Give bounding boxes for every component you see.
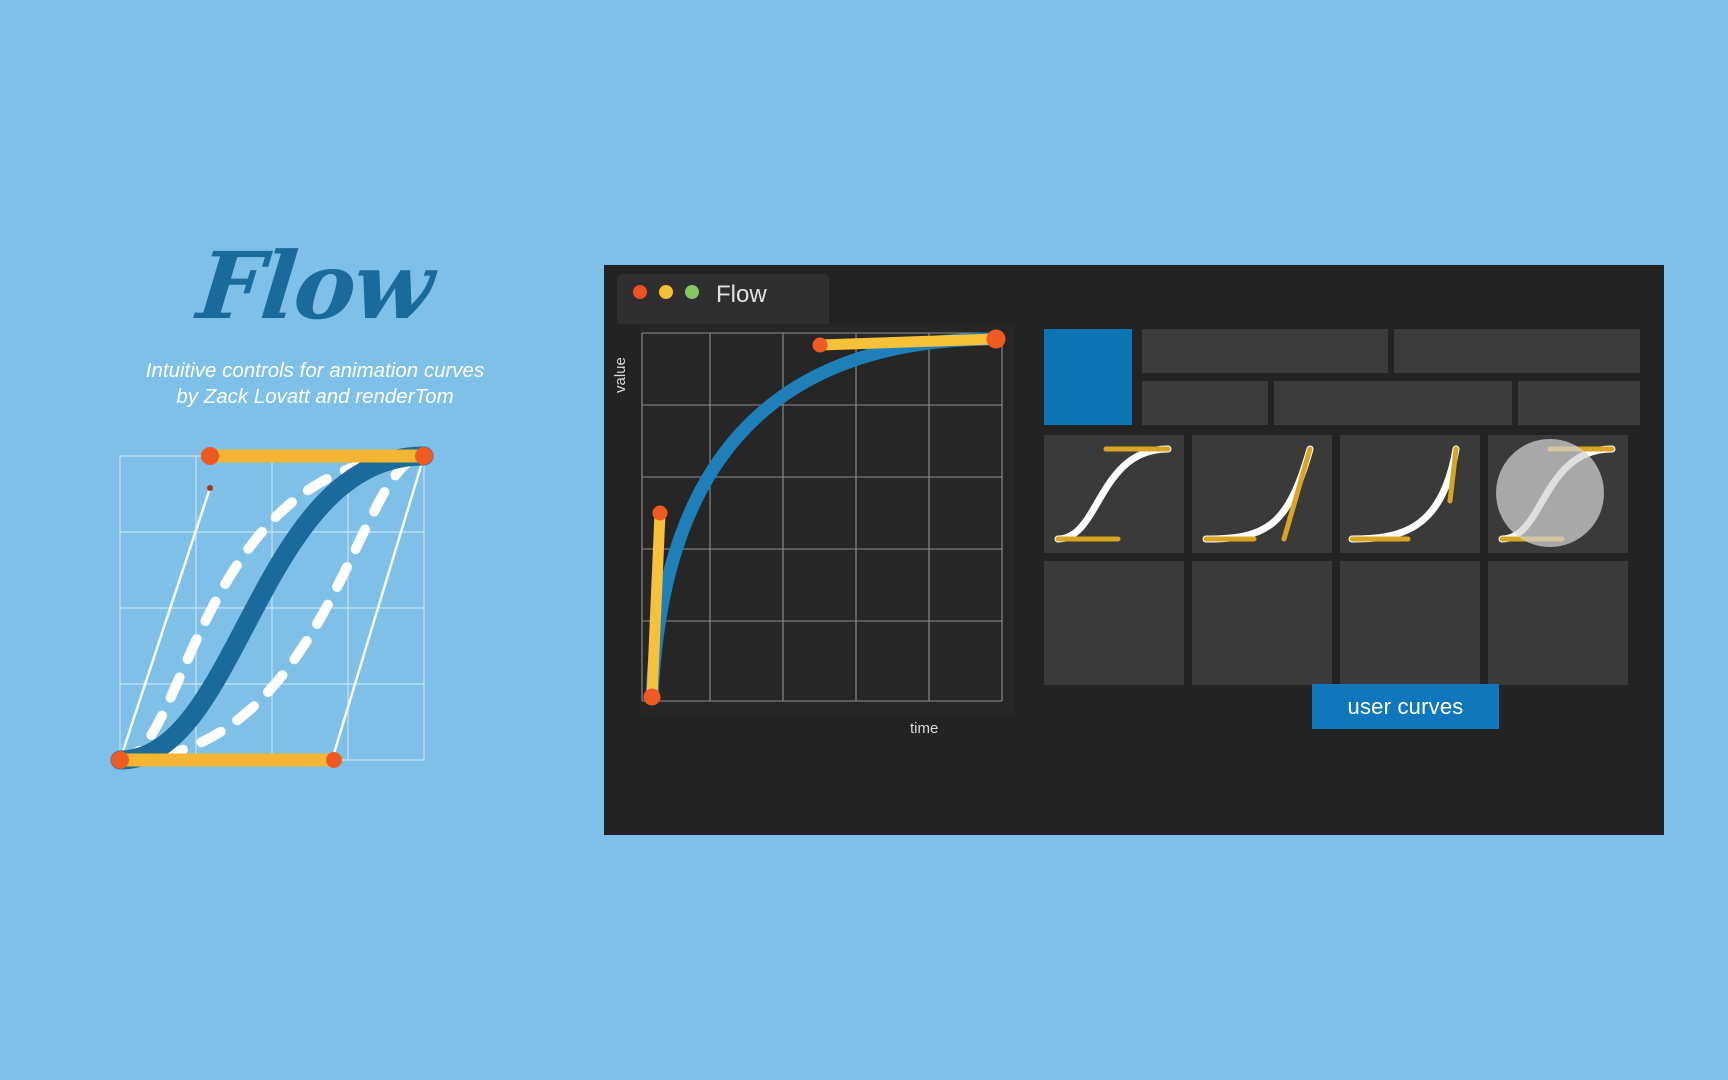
user-curves-button[interactable]: user curves <box>1312 684 1499 729</box>
toolbar-slot-a[interactable] <box>1142 329 1388 373</box>
minimize-icon[interactable] <box>659 285 673 299</box>
handle-out-dot[interactable] <box>813 338 828 353</box>
preset-panel <box>1044 325 1650 735</box>
window-title: Flow <box>716 281 767 309</box>
preset-empty-2[interactable] <box>1192 561 1332 685</box>
toolbar-slot-c[interactable] <box>1142 381 1268 425</box>
curve-editor-graph[interactable]: value time <box>618 325 1028 755</box>
x-axis-label: time <box>910 720 938 737</box>
maximize-icon[interactable] <box>685 285 699 299</box>
close-icon[interactable] <box>633 285 647 299</box>
toolbar-slot-d[interactable] <box>1274 381 1512 425</box>
preset-curve-ease-in <box>1192 435 1332 553</box>
brand-column: Flow Intuitive controls for animation cu… <box>80 240 550 840</box>
preset-ease-in[interactable] <box>1192 435 1332 553</box>
brand-curve-svg <box>90 430 550 810</box>
graph-background <box>640 325 1014 715</box>
brand-tangent-dot-top <box>207 485 213 491</box>
preset-curve-ease-in-out <box>1044 435 1184 553</box>
brand-curve-illustration <box>90 430 550 810</box>
preset-ease-out[interactable] <box>1340 435 1480 553</box>
flow-app-window: Flow value time <box>604 265 1664 835</box>
preset-ease-in-out-hover[interactable] <box>1488 435 1628 553</box>
preset-ease-in-out[interactable] <box>1044 435 1184 553</box>
preset-empty-1[interactable] <box>1044 561 1184 685</box>
anchor-start[interactable] <box>644 689 661 706</box>
toolbar-slot-e[interactable] <box>1518 381 1640 425</box>
anchor-end[interactable] <box>987 330 1006 349</box>
preset-empty-3[interactable] <box>1340 561 1480 685</box>
color-swatch[interactable] <box>1044 329 1132 425</box>
y-axis-label: value <box>612 357 629 393</box>
graph-svg[interactable] <box>640 325 1014 715</box>
tagline: Intuitive controls for animation curves … <box>80 358 550 409</box>
handle-in-dot[interactable] <box>653 506 668 521</box>
toolbar-slot-b[interactable] <box>1394 329 1640 373</box>
tagline-line-1: Intuitive controls for animation curves <box>146 359 484 382</box>
preset-curve-ease-out <box>1340 435 1480 553</box>
preset-empty-4[interactable] <box>1488 561 1628 685</box>
window-titlebar: Flow <box>604 265 1664 325</box>
flow-logo-wordmark: Flow <box>75 240 555 332</box>
tagline-line-2: by Zack Lovatt and renderTom <box>80 384 550 410</box>
preset-curve-ease-in-out-hover <box>1488 435 1628 553</box>
screenshot-root: Flow Intuitive controls for animation cu… <box>0 0 1728 1080</box>
